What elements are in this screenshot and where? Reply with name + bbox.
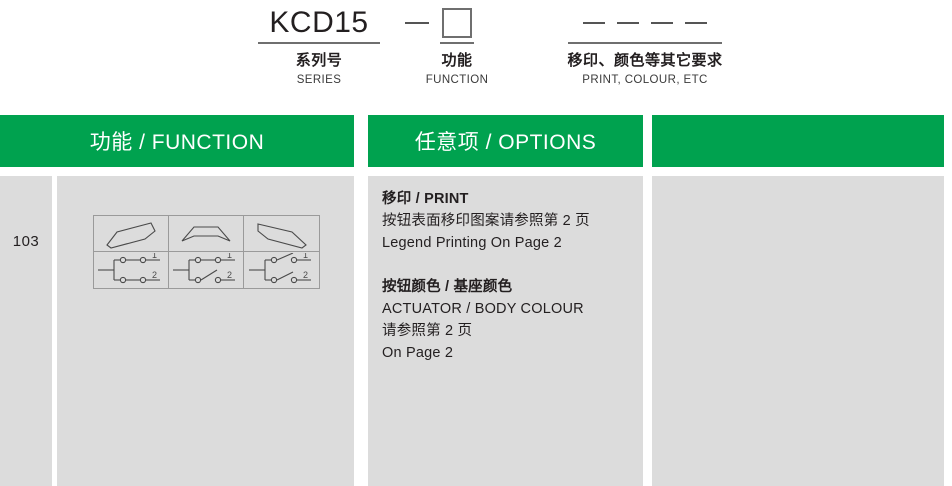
options-label-cn: 移印、颜色等其它要求 — [520, 52, 770, 71]
svg-text:2: 2 — [303, 270, 308, 280]
options-line-print-en: Legend Printing On Page 2 — [382, 232, 634, 254]
options-dash-3-icon — [651, 22, 673, 24]
options-label-en: PRINT, COLOUR, ETC — [520, 74, 770, 88]
options-cell: 移印 / PRINT 按钮表面移印图案请参照第 2 页 Legend Print… — [368, 176, 643, 486]
rocker-shape-2-icon — [169, 216, 243, 252]
switch-symbol-table: 1 2 — [93, 215, 320, 289]
options-text-block: 移印 / PRINT 按钮表面移印图案请参照第 2 页 Legend Print… — [382, 188, 634, 364]
table-header-options: 任意项 / OPTIONS — [368, 115, 643, 167]
options-dash-2-icon — [617, 22, 639, 24]
table-header-function: 功能 / FUNCTION — [0, 115, 354, 167]
series-value: KCD15 — [269, 8, 368, 38]
table-header-row: 功能 / FUNCTION 任意项 / OPTIONS — [0, 115, 952, 167]
switch-symbol-3: 1 2 — [244, 216, 319, 288]
options-dash-row — [520, 4, 770, 42]
options-spacer — [382, 254, 634, 276]
svg-text:1: 1 — [152, 253, 157, 260]
function-value-row — [412, 4, 502, 42]
table-row: 103 — [0, 176, 952, 486]
options-line-colour-ref-en: On Page 2 — [382, 342, 634, 364]
options-line-print-title: 移印 / PRINT — [382, 188, 634, 210]
series-label-en: SERIES — [243, 74, 395, 88]
svg-text:1: 1 — [303, 253, 308, 260]
part-number-header: KCD15 系列号 SERIES 功能 FUNCTION 移印、颜色等其它要求 … — [0, 0, 952, 100]
contact-diagram-2-icon: 1 2 — [169, 252, 243, 288]
options-dash-1-icon — [583, 22, 605, 24]
part-code-options: 移印、颜色等其它要求 PRINT, COLOUR, ETC — [520, 4, 770, 88]
switch-symbol-2: 1 2 — [169, 216, 244, 288]
options-underline — [568, 42, 722, 44]
svg-text:2: 2 — [152, 270, 157, 280]
function-underline — [440, 42, 474, 44]
part-code-series: KCD15 系列号 SERIES — [243, 4, 395, 88]
options-line-print-cn: 按钮表面移印图案请参照第 2 页 — [382, 210, 634, 232]
options-line-colour-title-en: ACTUATOR / BODY COLOUR — [382, 298, 634, 320]
series-value-row: KCD15 — [243, 4, 395, 42]
part-code-function: 功能 FUNCTION — [412, 4, 502, 88]
contact-diagram-1-icon: 1 2 — [94, 252, 168, 288]
rocker-shape-1-icon — [94, 216, 168, 252]
options-dash-4-icon — [685, 22, 707, 24]
blank-cell — [652, 176, 944, 486]
series-label-cn: 系列号 — [243, 52, 395, 71]
svg-text:1: 1 — [227, 253, 232, 260]
table-header-function-label: 功能 / FUNCTION — [90, 126, 265, 156]
options-line-colour-title-cn: 按钮颜色 / 基座颜色 — [382, 276, 634, 298]
function-label-cn: 功能 — [412, 52, 502, 71]
series-underline — [258, 42, 380, 44]
function-empty-box-icon — [442, 8, 472, 38]
function-label-en: FUNCTION — [412, 74, 502, 88]
rocker-shape-3-icon — [244, 216, 319, 252]
function-diagram-cell: 1 2 — [57, 176, 354, 486]
table-header-options-label: 任意项 / OPTIONS — [415, 126, 597, 156]
options-line-colour-ref-cn: 请参照第 2 页 — [382, 320, 634, 342]
svg-text:2: 2 — [227, 270, 232, 280]
contact-diagram-3-icon: 1 2 — [244, 252, 319, 288]
row-number-value: 103 — [0, 176, 52, 306]
row-number-cell: 103 — [0, 176, 52, 486]
switch-symbol-1: 1 2 — [94, 216, 169, 288]
table-header-blank — [652, 115, 944, 167]
